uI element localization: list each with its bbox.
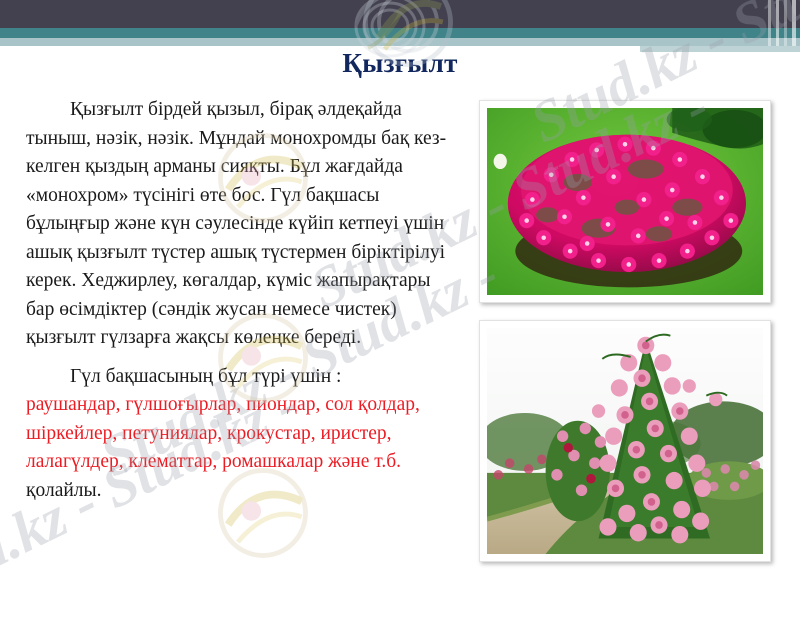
banner-band-dark [0, 0, 800, 28]
photo-rosebush-inner [487, 328, 763, 554]
paragraph-description: Қызғылт бірдей қызыл, бірақ әлдеқайда ты… [26, 96, 456, 353]
banner-edge-stripes [764, 0, 800, 46]
paragraph-suitable-plants: Гүл бақшасының бұл түрі үшін : раушандар… [26, 363, 456, 506]
photo-rosebush [479, 320, 771, 562]
photo-flowerbed [479, 100, 771, 303]
suitable-plants-list: раушандар, гүлшоғырлар, пиондар, сол қол… [26, 394, 420, 472]
slide-body-text: Қызғылт бірдей қызыл, бірақ әлдеқайда ты… [26, 96, 456, 505]
flower-bed-photo-icon [487, 108, 763, 295]
banner-band-pale [0, 38, 800, 46]
banner-band-teal [0, 28, 800, 38]
photo-flowerbed-inner [487, 108, 763, 295]
slide-header-banner [0, 0, 800, 46]
paragraph-description-text: Қызғылт бірдей қызыл, бірақ әлдеқайда ты… [26, 99, 446, 348]
suitable-plants-lead: Гүл бақшасының бұл түрі үшін : [70, 366, 341, 387]
rose-bush-photo-icon [487, 328, 763, 554]
page-title: Қызғылт [0, 48, 800, 79]
suitable-plants-tail: қолайлы. [26, 480, 102, 501]
